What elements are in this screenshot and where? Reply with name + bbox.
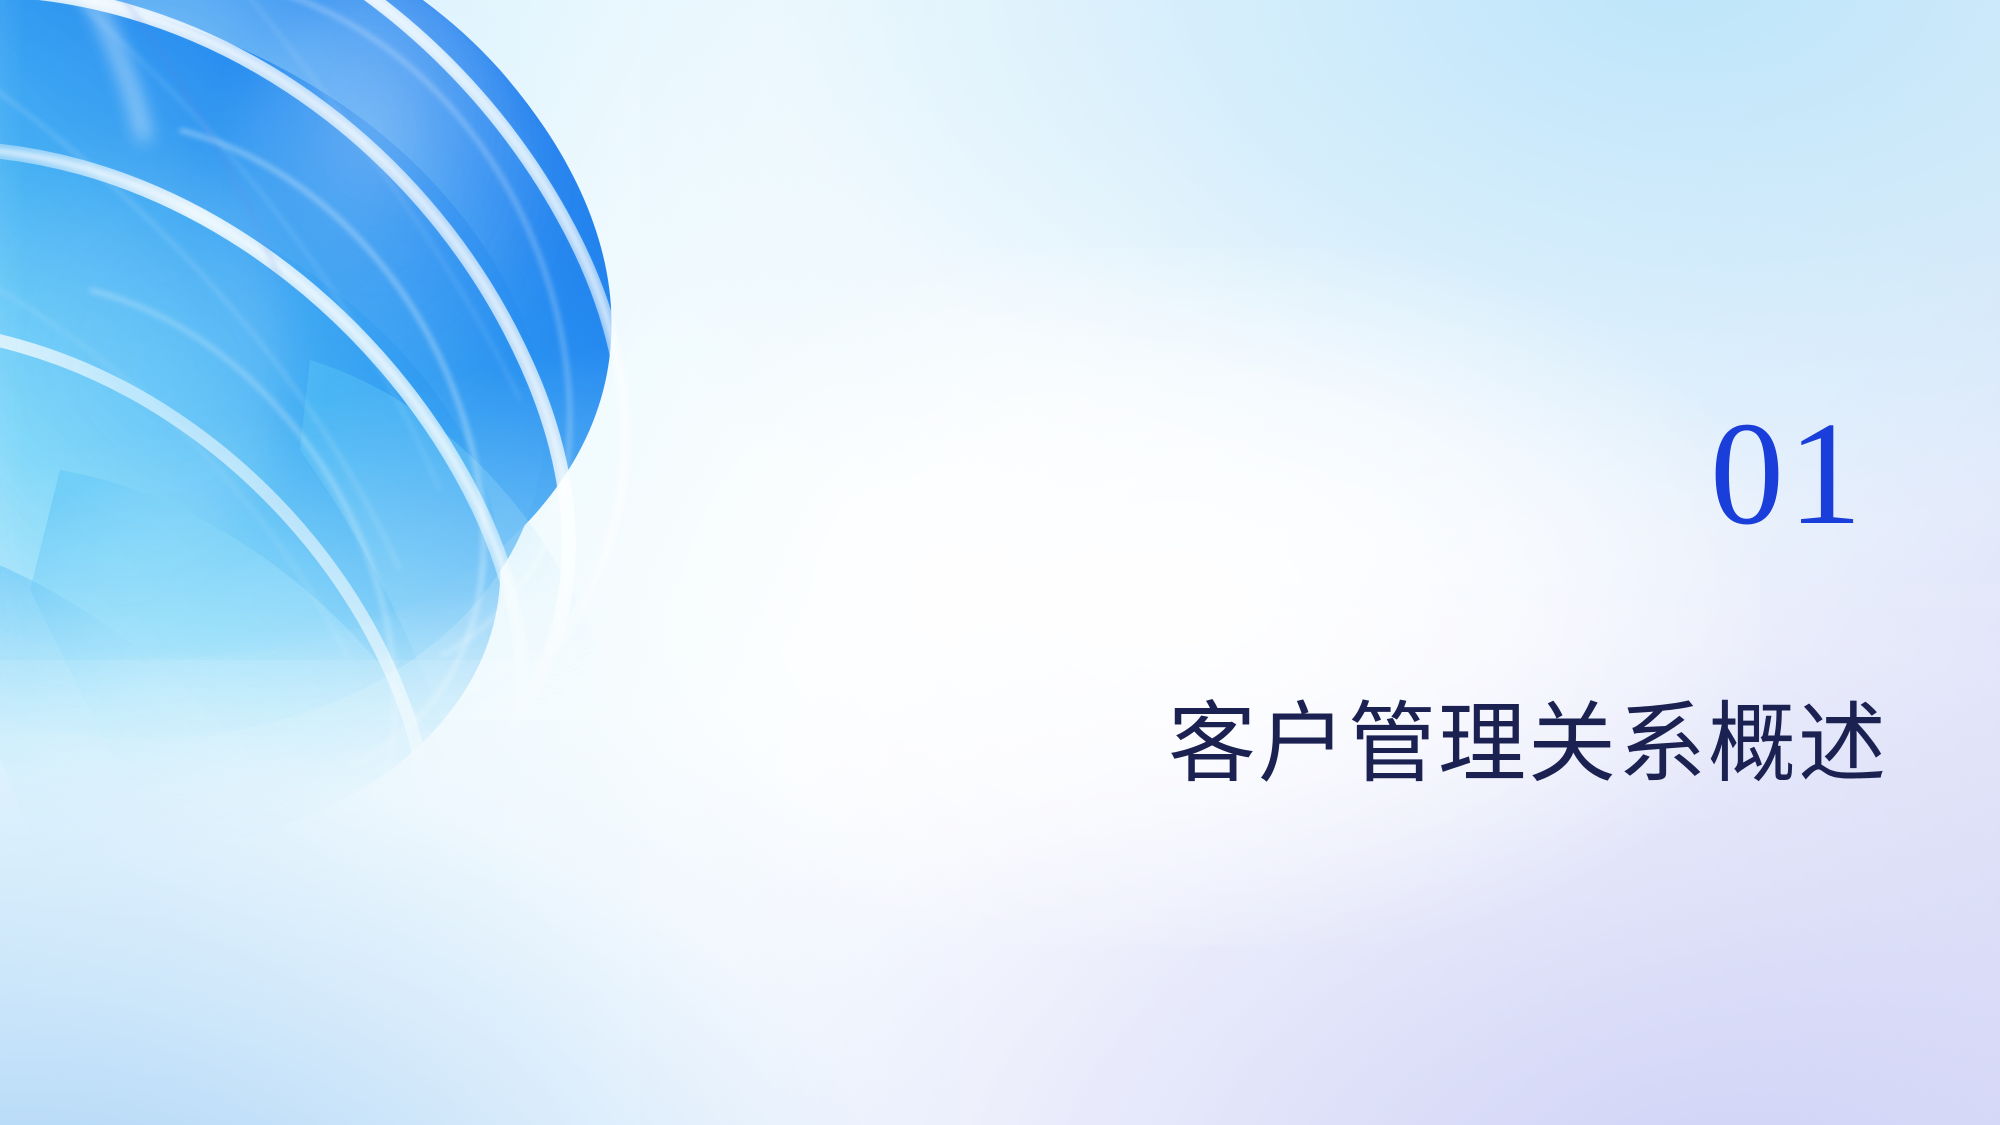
slide-canvas: 01 客户管理关系概述	[0, 0, 2000, 1125]
section-number: 01	[1710, 400, 1866, 548]
section-text-block: 01 客户管理关系概述	[1100, 400, 1900, 870]
page-title: 客户管理关系概述	[1168, 700, 1888, 788]
decorative-ribbon-graphic	[0, 0, 780, 890]
